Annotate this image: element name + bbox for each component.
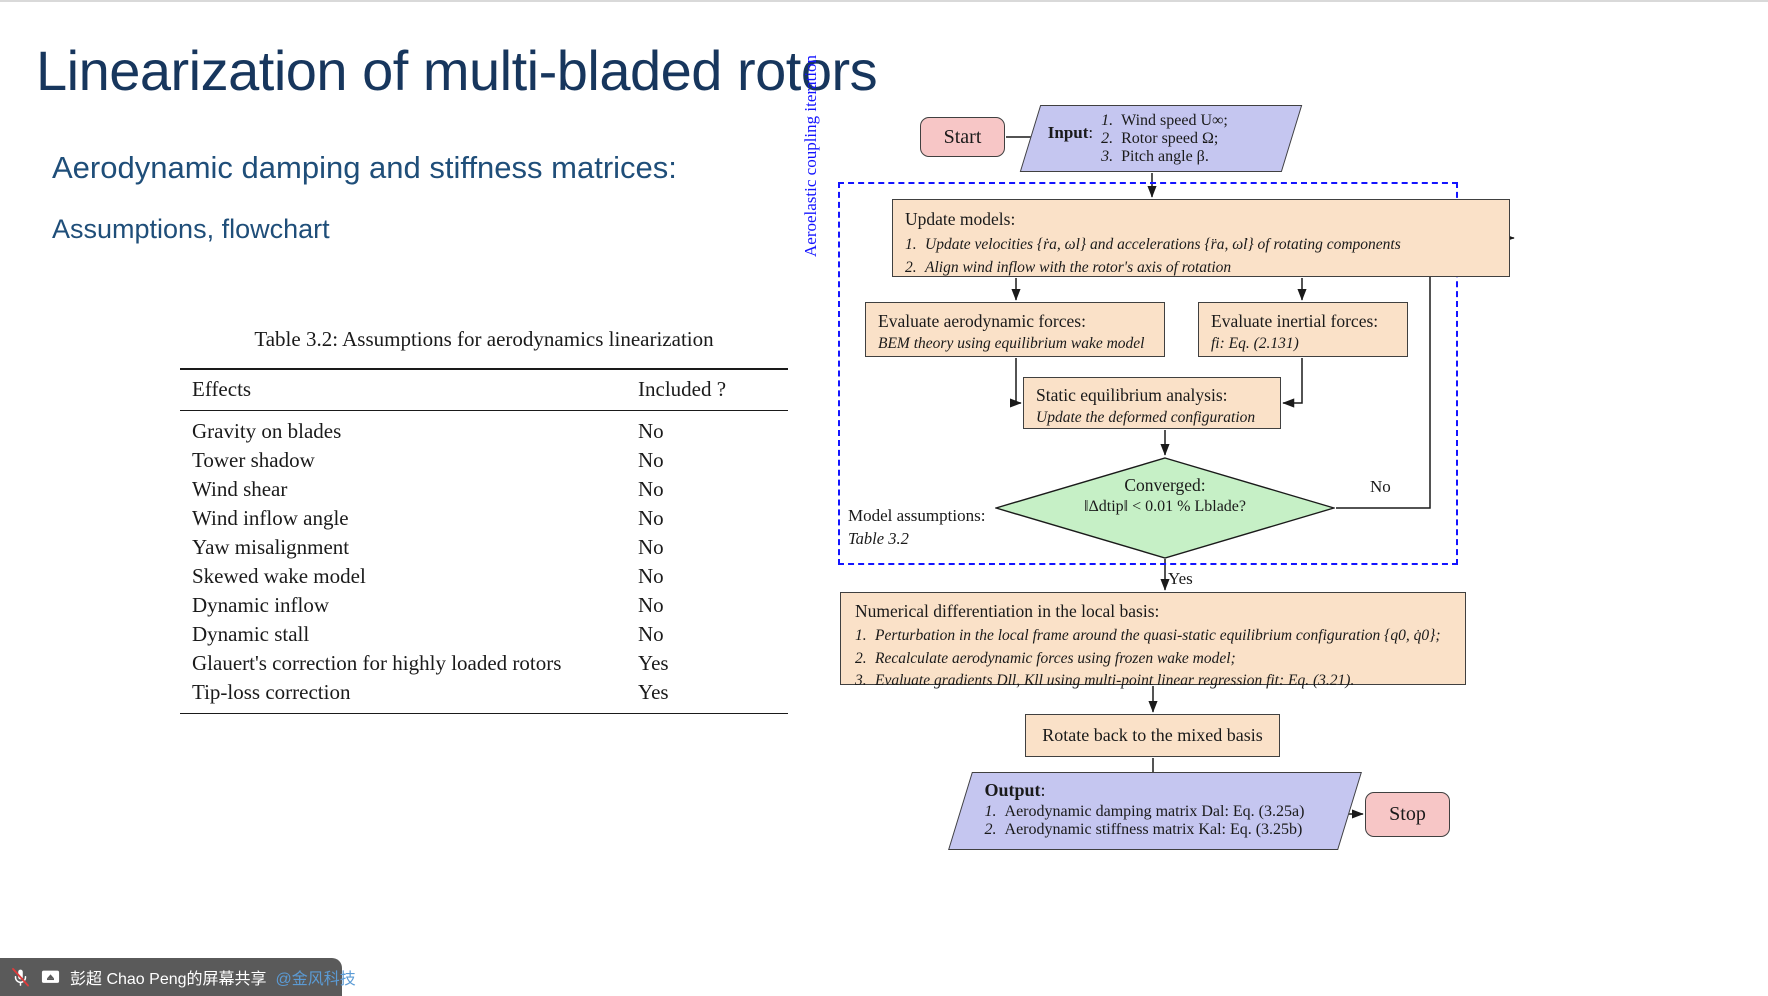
table-row: Dynamic inflowNo xyxy=(180,591,788,620)
table-body: Gravity on bladesNo Tower shadowNo Wind … xyxy=(180,411,788,714)
node-converged-decision[interactable]: Converged: ‖Δdtip‖ < 0.01 % Lblade? xyxy=(995,457,1335,559)
node-numdiff-title: Numerical differentiation in the local b… xyxy=(855,600,1465,623)
cell-effect: Yaw misalignment xyxy=(180,533,620,562)
table-header-included: Included ? xyxy=(620,369,788,411)
edge-label-no: No xyxy=(1370,477,1391,497)
screen-share-taskbar[interactable]: 彭超 Chao Peng的屏幕共享 @金风科技 xyxy=(0,958,342,996)
table-caption: Table 3.2: Assumptions for aerodynamics … xyxy=(180,327,788,352)
cell-included: No xyxy=(620,504,788,533)
output-item: 2.Aerodynamic stiffness matrix Kal: Eq. … xyxy=(985,821,1351,839)
node-stop-label: Stop xyxy=(1389,803,1426,826)
update-models-item: 1.Update velocities {ṙa, ωl} and acceler… xyxy=(905,234,1509,256)
input-item: 1.Wind speed U∞; xyxy=(1101,112,1228,130)
node-input[interactable]: Input: 1.Wind speed U∞; 2.Rotor speed Ω;… xyxy=(1020,105,1302,172)
assumptions-table: Effects Included ? Gravity on bladesNo T… xyxy=(180,368,788,714)
node-input-content: Input: 1.Wind speed U∞; 2.Rotor speed Ω;… xyxy=(1032,106,1292,166)
numdiff-item: 1.Perturbation in the local frame around… xyxy=(855,625,1465,647)
table-row: Tower shadowNo xyxy=(180,446,788,475)
subtitle-secondary: Assumptions, flowchart xyxy=(52,214,330,245)
node-inertial-title: Evaluate inertial forces: xyxy=(1211,310,1407,333)
node-stop[interactable]: Stop xyxy=(1365,792,1450,837)
table-header-row: Effects Included ? xyxy=(180,369,788,411)
cell-included: No xyxy=(620,411,788,447)
node-start[interactable]: Start xyxy=(920,117,1005,157)
cell-included: No xyxy=(620,562,788,591)
linearization-flowchart: Aeroelastic coupling iteration Start Inp… xyxy=(820,97,1760,977)
microphone-muted-icon[interactable] xyxy=(10,967,31,988)
cell-effect: Tip-loss correction xyxy=(180,678,620,714)
table-row: Gravity on bladesNo xyxy=(180,411,788,447)
cell-effect: Gravity on blades xyxy=(180,411,620,447)
decision-line2: ‖Δdtip‖ < 0.01 % Lblade? xyxy=(995,498,1335,516)
aeroelastic-group-label: Aeroelastic coupling iteration xyxy=(801,55,821,257)
node-output-content: Output: 1.Aerodynamic damping matrix Dal… xyxy=(963,773,1351,839)
table-row: Yaw misalignmentNo xyxy=(180,533,788,562)
decision-text: Converged: ‖Δdtip‖ < 0.01 % Lblade? xyxy=(995,475,1335,516)
cell-included: Yes xyxy=(620,649,788,678)
node-aero-sub: BEM theory using equilibrium wake model xyxy=(878,333,1164,355)
table-row: Glauert's correction for highly loaded r… xyxy=(180,649,788,678)
numdiff-item: 3.Evaluate gradients Dll, Kll using mult… xyxy=(855,670,1465,692)
numdiff-item: 2.Recalculate aerodynamic forces using f… xyxy=(855,648,1465,670)
node-rotate-label: Rotate back to the mixed basis xyxy=(1042,725,1262,746)
table-row: Tip-loss correctionYes xyxy=(180,678,788,714)
edge-label-yes: Yes xyxy=(1168,569,1193,589)
cell-included: No xyxy=(620,475,788,504)
update-models-item: 2.Align wind inflow with the rotor's axi… xyxy=(905,257,1509,279)
model-assumptions-note: Model assumptions: Table 3.2 xyxy=(848,505,985,550)
subtitle-primary: Aerodynamic damping and stiffness matric… xyxy=(52,150,677,186)
table-row: Wind inflow angleNo xyxy=(180,504,788,533)
node-update-models-title: Update models: xyxy=(905,208,1509,231)
node-start-label: Start xyxy=(944,126,982,149)
model-assumptions-ref: Table 3.2 xyxy=(848,528,985,550)
node-output-label: Output xyxy=(985,780,1041,800)
share-org-text: @金风科技 xyxy=(276,965,356,989)
cell-effect: Dynamic inflow xyxy=(180,591,620,620)
cell-effect: Skewed wake model xyxy=(180,562,620,591)
table-row: Skewed wake modelNo xyxy=(180,562,788,591)
assumptions-table-block: Table 3.2: Assumptions for aerodynamics … xyxy=(180,327,788,714)
node-static-sub: Update the deformed configuration xyxy=(1036,407,1280,429)
cell-effect: Glauert's correction for highly loaded r… xyxy=(180,649,620,678)
cell-included: No xyxy=(620,620,788,649)
cell-effect: Dynamic stall xyxy=(180,620,620,649)
cell-effect: Wind shear xyxy=(180,475,620,504)
input-item: 3.Pitch angle β. xyxy=(1101,148,1228,166)
node-update-models[interactable]: Update models: 1.Update velocities {ṙa, … xyxy=(892,199,1510,277)
node-static-equilibrium[interactable]: Static equilibrium analysis: Update the … xyxy=(1023,377,1281,429)
output-item: 1.Aerodynamic damping matrix Dal: Eq. (3… xyxy=(985,803,1351,821)
screen-share-icon[interactable] xyxy=(40,967,61,988)
input-item: 2.Rotor speed Ω; xyxy=(1101,130,1228,148)
slide-canvas: Linearization of multi-bladed rotors Aer… xyxy=(0,0,1768,996)
node-aero-title: Evaluate aerodynamic forces: xyxy=(878,310,1164,333)
table-row: Wind shearNo xyxy=(180,475,788,504)
table-header-effects: Effects xyxy=(180,369,620,411)
cell-included: Yes xyxy=(620,678,788,714)
node-evaluate-inertial-forces[interactable]: Evaluate inertial forces: fi: Eq. (2.131… xyxy=(1198,302,1408,357)
node-evaluate-aerodynamic-forces[interactable]: Evaluate aerodynamic forces: BEM theory … xyxy=(865,302,1165,357)
cell-effect: Tower shadow xyxy=(180,446,620,475)
cell-included: No xyxy=(620,533,788,562)
node-output[interactable]: Output: 1.Aerodynamic damping matrix Dal… xyxy=(948,772,1362,850)
table-row: Dynamic stallNo xyxy=(180,620,788,649)
node-inertial-sub: fi: Eq. (2.131) xyxy=(1211,333,1407,355)
cell-included: No xyxy=(620,591,788,620)
node-rotate-back[interactable]: Rotate back to the mixed basis xyxy=(1025,714,1280,757)
page-title: Linearization of multi-bladed rotors xyxy=(36,38,877,103)
share-status-text: 彭超 Chao Peng的屏幕共享 xyxy=(70,965,267,989)
cell-effect: Wind inflow angle xyxy=(180,504,620,533)
model-assumptions-title: Model assumptions: xyxy=(848,505,985,528)
node-numerical-differentiation[interactable]: Numerical differentiation in the local b… xyxy=(840,592,1466,685)
node-static-title: Static equilibrium analysis: xyxy=(1036,384,1280,407)
node-input-label: Input xyxy=(1048,123,1089,142)
cell-included: No xyxy=(620,446,788,475)
decision-line1: Converged: xyxy=(995,475,1335,496)
